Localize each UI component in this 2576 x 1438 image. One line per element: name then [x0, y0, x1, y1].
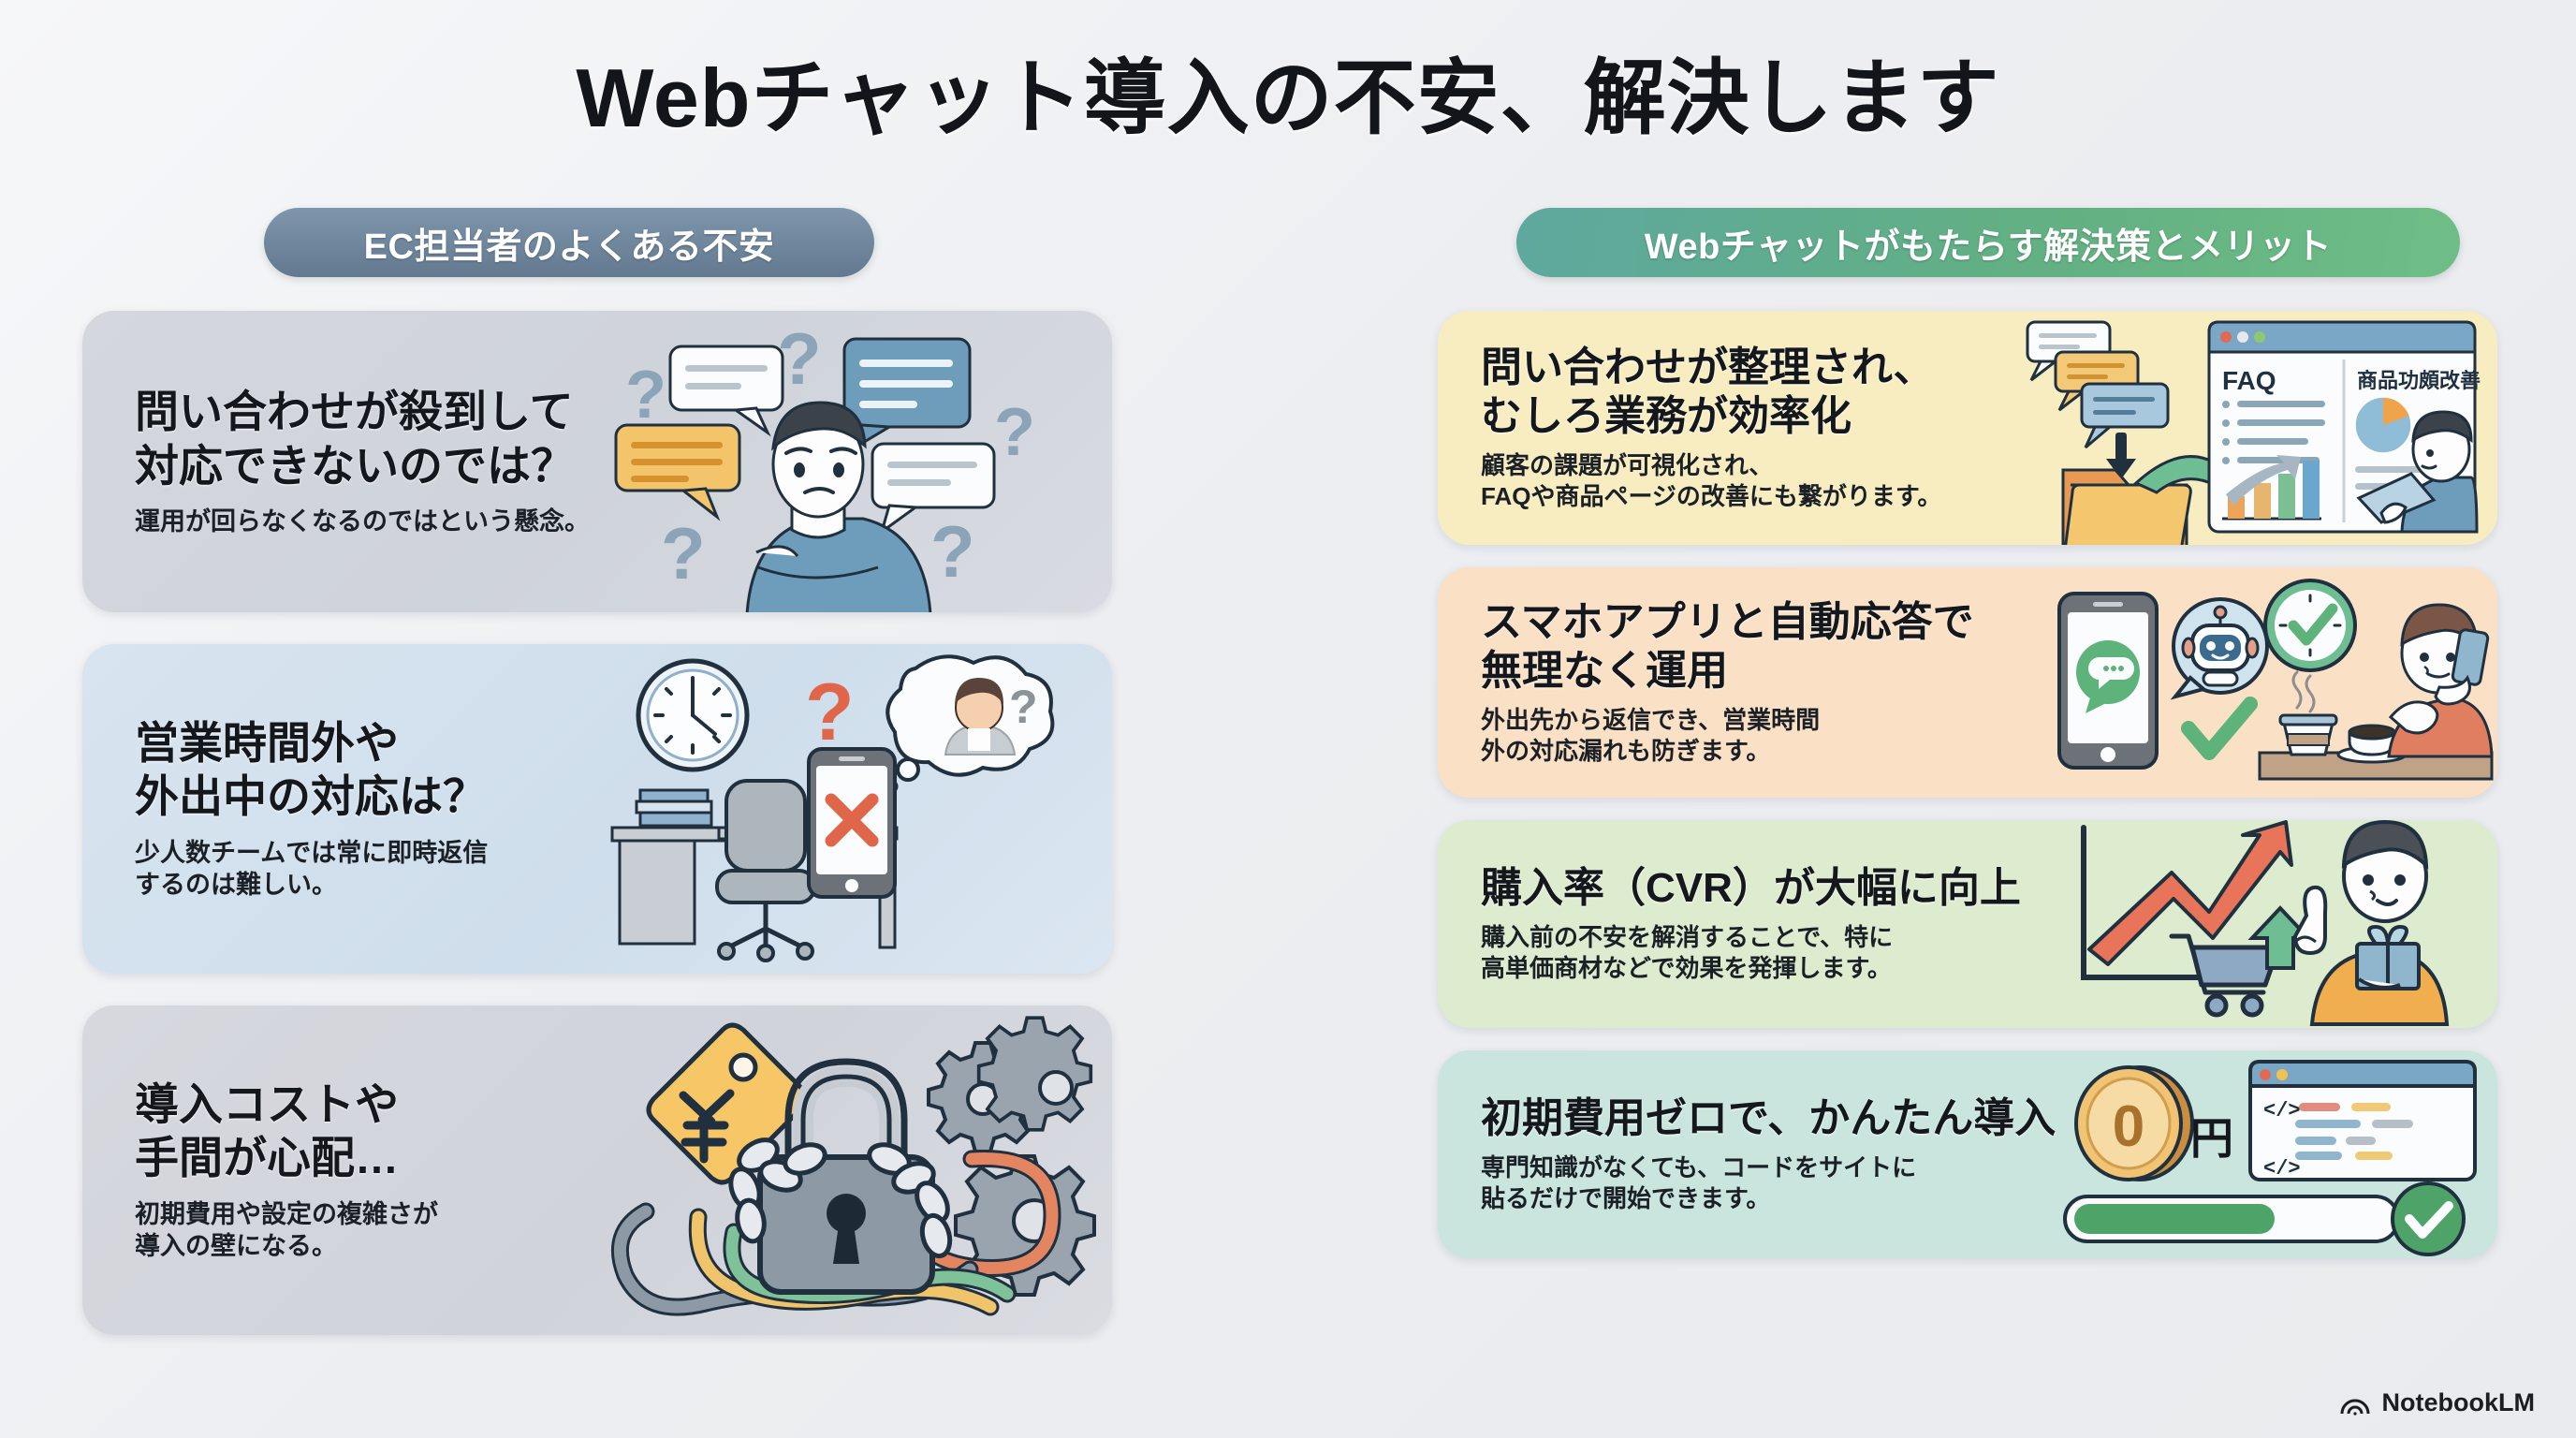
benefit-card-organized: FAQ 商品功頗改善: [1438, 311, 2497, 545]
concern-sub: 初期費用や設定の複雑さが 導入の壁になる。: [135, 1198, 438, 1263]
concern-headline: 営業時間外や 外出中の対応は？: [135, 716, 488, 824]
benefit-card-mobile-auto: スマホアプリと自動応答で 無理なく運用 外出先から返信でき、営業時間 外の対応漏…: [1438, 567, 2497, 798]
bubbles-folder-arrow-dashboard-icon: FAQ 商品功頗改善: [2026, 311, 2494, 545]
benefit-card-zero-cost: 0 円 </>: [1438, 1050, 2497, 1258]
notebooklm-watermark: NotebookLM: [2339, 1388, 2535, 1417]
phone-bot-clock-cafe-person-icon: [2052, 567, 2492, 798]
benefit-card-body: スマホアプリと自動応答で 無理なく運用 外出先から返信でき、営業時間 外の対応漏…: [1438, 578, 1974, 787]
concern-card-body: 導入コストや 手間が心配… 初期費用や設定の複雑さが 導入の壁になる。: [82, 1049, 438, 1291]
yen-label: 円: [2190, 1114, 2233, 1163]
right-section-heading: Webチャットがもたらす解決策とメリット: [1516, 208, 2460, 277]
concern-card-afterhours: ? ?: [82, 644, 1112, 974]
benefit-sub: 専門知識がなくても、コードをサイトに 貼るだけで開始できます。: [1481, 1152, 2056, 1215]
code-tag-label-top: </>: [2263, 1099, 2301, 1123]
benefit-sub: 購入前の不安を解消することで、特に 高単価商材などで効果を発揮します。: [1481, 922, 2021, 985]
concern-sub: 運用が回らなくなるのではという懸念。: [135, 506, 590, 538]
zero-yen-coin-code-window-progress-icon: 0 円 </>: [2063, 1054, 2484, 1253]
benefit-headline: スマホアプリと自動応答で 無理なく運用: [1481, 598, 1974, 696]
right-column: Webチャットがもたらす解決策とメリット: [1438, 208, 2497, 1258]
benefit-headline: 問い合わせが整理され、 むしろ業務が効率化: [1481, 344, 1941, 441]
coin-zero-label: 0: [2113, 1094, 2144, 1159]
benefit-card-body: 問い合わせが整理され、 むしろ業務が効率化 顧客の課題が可視化され、 FAQや商…: [1438, 323, 1941, 533]
left-column: EC担当者のよくある不安 ? ? ? ? ?: [82, 208, 1112, 1335]
concern-card-body: 営業時間外や 外出中の対応は？ 少人数チームでは常に即時返信 するのは難しい。: [82, 688, 488, 930]
concern-sub: 少人数チームでは常に即時返信 するのは難しい。: [135, 837, 488, 902]
worried-person-chat-bubbles-icon: ? ? ? ? ?: [616, 311, 1103, 612]
concern-card-body: 問い合わせが殺到して 対応できないのでは？ 運用が回らなくなるのではという懸念。: [82, 357, 590, 565]
concern-card-inquiries: ? ? ? ? ?: [82, 311, 1112, 612]
code-tag-label-bottom: </>: [2263, 1157, 2301, 1181]
benefit-sub: 外出先から返信でき、営業時間 外の対応漏れも防ぎます。: [1481, 705, 1974, 768]
benefit-headline: 購入率（CVR）が大幅に向上: [1481, 864, 2021, 913]
panel-label: 商品功頗改善: [2357, 369, 2481, 392]
left-section-heading-label: EC担当者のよくある不安: [364, 217, 775, 269]
notebooklm-arc-icon: [2339, 1391, 2371, 1416]
concern-headline: 導入コストや 手間が心配…: [135, 1078, 438, 1185]
concern-headline: 問い合わせが殺到して 対応できないのでは？: [135, 385, 590, 492]
concern-card-cost: 導入コストや 手間が心配… 初期費用や設定の複雑さが 導入の壁になる。: [82, 1005, 1112, 1335]
faq-label: FAQ: [2222, 366, 2276, 395]
padlock-chain-gears-pricetag-icon: [593, 1009, 1112, 1328]
svg-text:?: ?: [994, 395, 1035, 470]
right-section-heading-label: Webチャットがもたらす解決策とメリット: [1645, 217, 2332, 269]
page-title: Webチャット導入の不安、解決します: [0, 32, 2576, 151]
benefit-card-body: 購入率（CVR）が大幅に向上 購入前の不安を解消することで、特に 高単価商材など…: [1438, 844, 2021, 1005]
left-section-heading: EC担当者のよくある不安: [264, 208, 874, 277]
svg-text:?: ?: [805, 668, 855, 757]
notebooklm-label: NotebookLM: [2382, 1388, 2535, 1417]
svg-text:?: ?: [661, 512, 706, 594]
benefit-headline: 初期費用ゼロで、かんたん導入: [1481, 1094, 2056, 1143]
svg-text:?: ?: [930, 510, 975, 593]
benefit-card-cvr: 購入率（CVR）が大幅に向上 購入前の不安を解消することで、特に 高単価商材など…: [1438, 820, 2497, 1028]
benefit-card-body: 初期費用ゼロで、かんたん導入 専門知識がなくても、コードをサイトに 貼るだけで開…: [1438, 1074, 2056, 1235]
svg-text:?: ?: [625, 358, 666, 433]
rising-arrow-cart-person-gift-icon: [2067, 820, 2488, 1028]
empty-desk-clock-phone-x-icon: ? ?: [607, 650, 1112, 968]
svg-text:?: ?: [1009, 681, 1038, 733]
svg-text:?: ?: [777, 317, 822, 400]
benefit-sub: 顧客の課題が可視化され、 FAQや商品ページの改善にも繋がります。: [1481, 450, 1941, 513]
